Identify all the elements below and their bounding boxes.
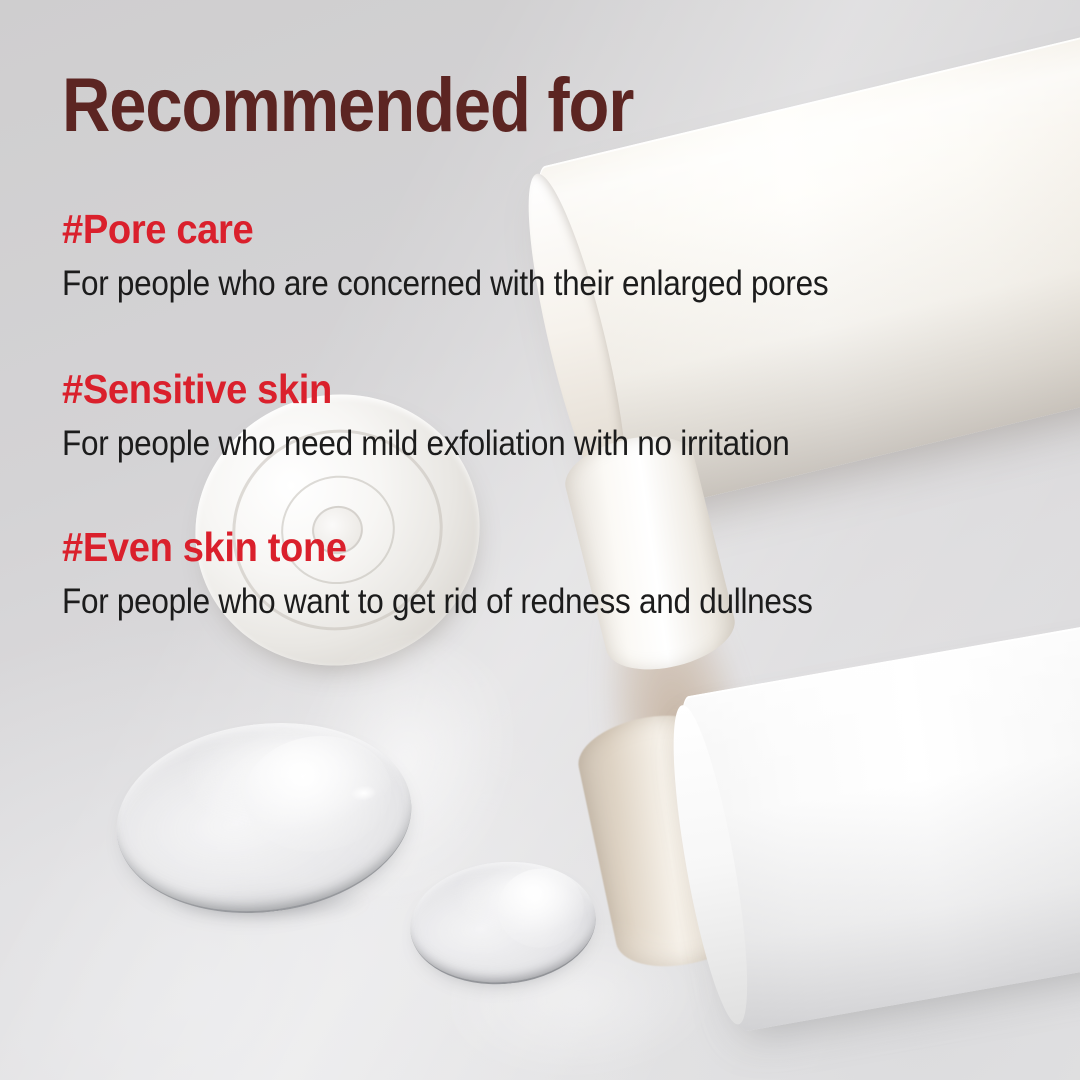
benefit-description: For people who are concerned with their … xyxy=(62,265,926,303)
benefit-item-pore-care: #Pore care For people who are concerned … xyxy=(62,208,1022,303)
product-benefits-graphic: 용기에 표기 사용기한은 개별 제조일로부터 [사용기한] 내용량 100mL … xyxy=(0,0,1080,1080)
benefit-tag: #Sensitive skin xyxy=(62,368,955,411)
benefit-tag: #Pore care xyxy=(62,208,955,251)
benefit-description: For people who want to get rid of rednes… xyxy=(62,583,926,621)
text-overlay: Recommended for #Pore care For people wh… xyxy=(0,0,1080,1080)
benefit-item-sensitive-skin: #Sensitive skin For people who need mild… xyxy=(62,368,1022,463)
benefit-item-even-skin-tone: #Even skin tone For people who want to g… xyxy=(62,526,1022,621)
benefit-description: For people who need mild exfoliation wit… xyxy=(62,425,926,463)
page-title: Recommended for xyxy=(62,68,633,144)
benefit-tag: #Even skin tone xyxy=(62,526,955,569)
